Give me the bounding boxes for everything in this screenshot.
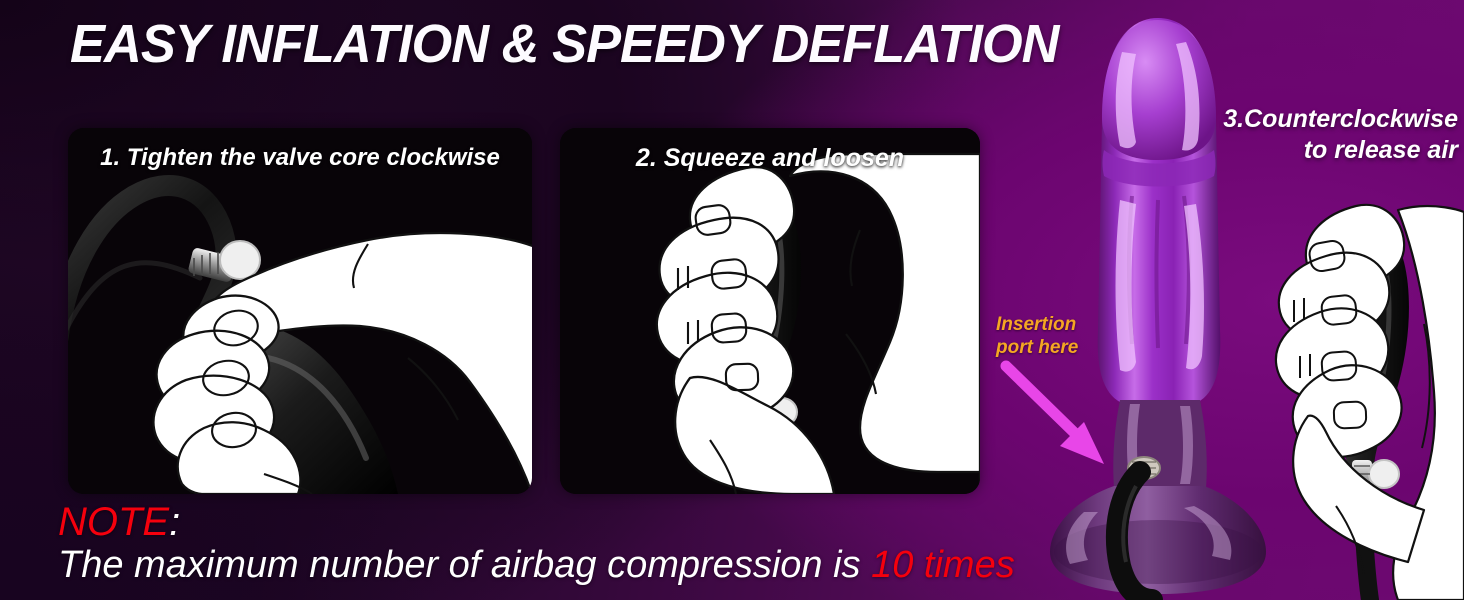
step-1-illustration xyxy=(68,128,532,494)
step-2-caption: 2. Squeeze and loosen xyxy=(560,144,980,173)
step-3-caption-line2: to release air xyxy=(1128,135,1458,166)
insertion-port-label: Insertion port here xyxy=(996,314,1096,360)
note-text: The maximum number of airbag compression… xyxy=(58,544,871,586)
step-2-panel: 2. Squeeze and loosen xyxy=(560,128,980,494)
page-title: EASY INFLATION & SPEEDY DEFLATION xyxy=(70,16,1059,73)
insertion-port-label-line1: Insertion xyxy=(996,314,1096,337)
note-highlight: 10 times xyxy=(871,544,1015,586)
note-label: NOTE xyxy=(58,500,169,544)
note-text-line: The maximum number of airbag compression… xyxy=(58,546,1015,586)
note-label-line: NOTE: xyxy=(58,502,1015,544)
insertion-port-label-line2: port here xyxy=(996,337,1096,360)
note-colon: : xyxy=(169,500,180,544)
product-photo-svg xyxy=(1044,0,1276,600)
arrow-down-right-icon xyxy=(1000,360,1130,480)
step-1-caption: 1. Tighten the valve core clockwise xyxy=(68,144,532,172)
step-1-panel: 1. Tighten the valve core clockwise xyxy=(68,128,532,494)
infographic-canvas: EASY INFLATION & SPEEDY DEFLATION xyxy=(0,0,1464,600)
step-3-caption: 3.Counterclockwise to release air xyxy=(1128,104,1458,165)
step-2-illustration xyxy=(560,128,980,494)
note-block: NOTE: The maximum number of airbag compr… xyxy=(58,502,1015,585)
step-3-illustration xyxy=(1248,176,1464,600)
step-3-caption-line1: 3.Counterclockwise xyxy=(1128,104,1458,135)
product-photo xyxy=(1044,0,1276,600)
